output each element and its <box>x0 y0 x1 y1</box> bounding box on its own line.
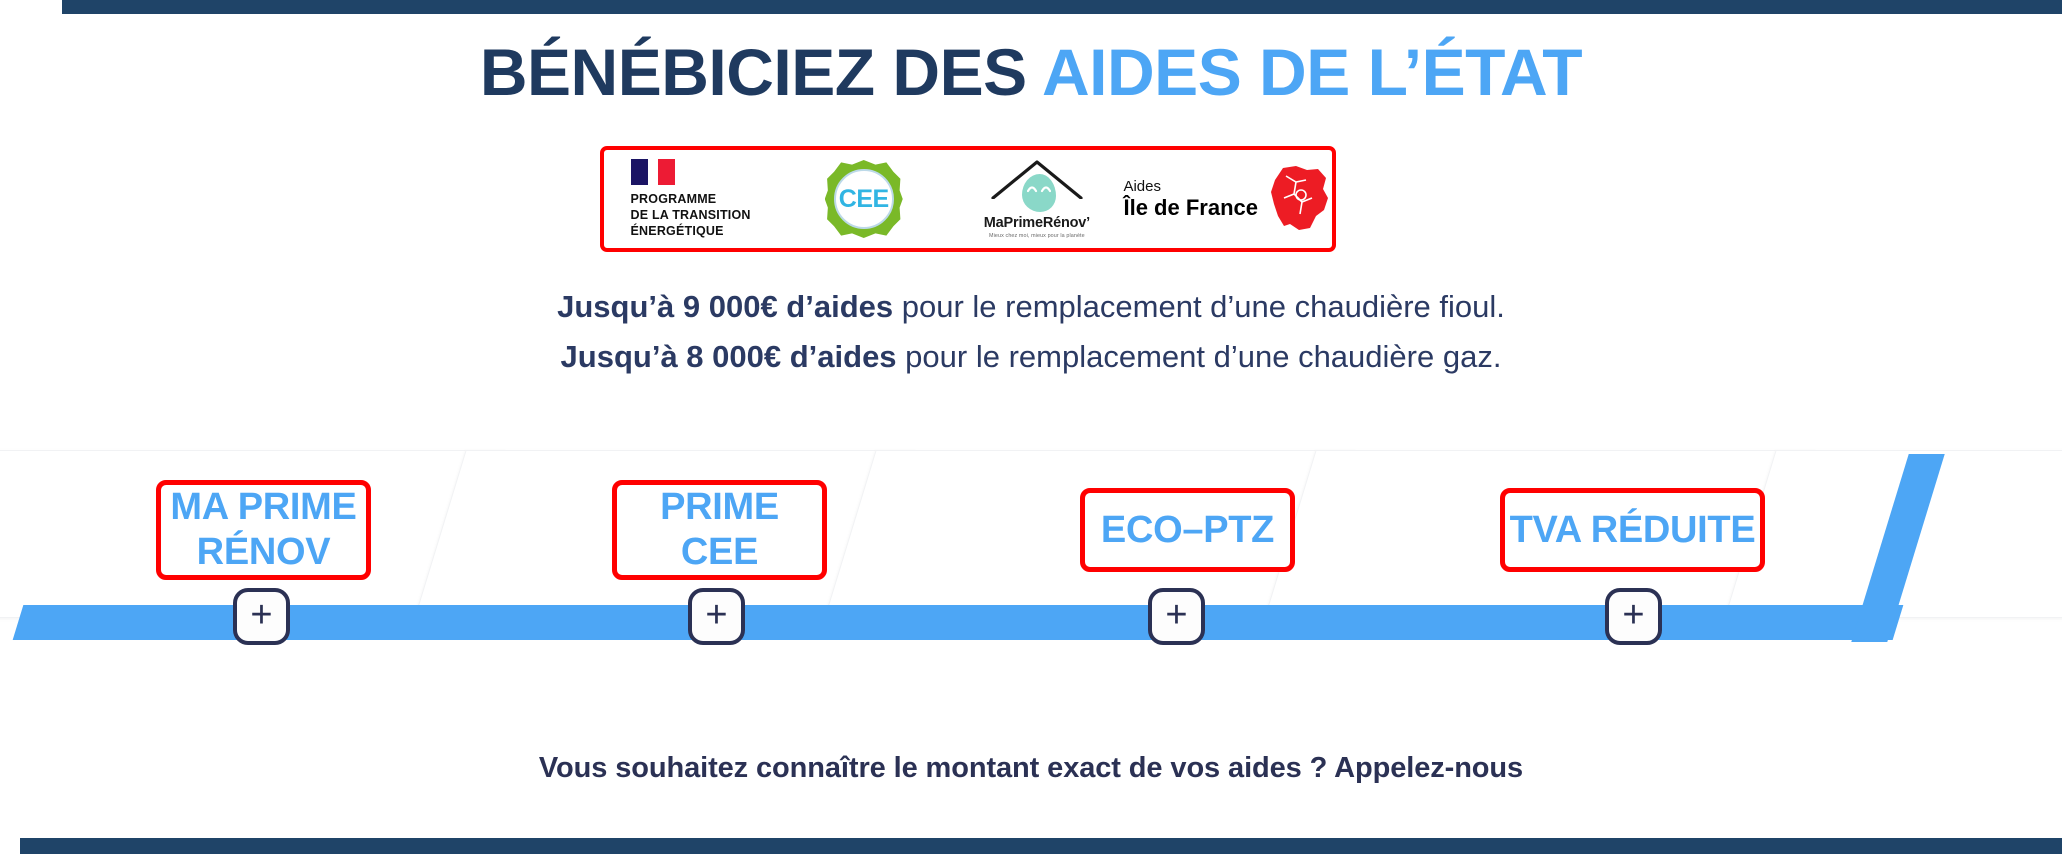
expand-button-ma-prime-renov[interactable]: + <box>233 588 290 645</box>
expand-button-tva-reduite[interactable]: + <box>1605 588 1662 645</box>
pte-line-2: DE LA TRANSITION <box>631 207 751 223</box>
logo-programme-transition-energetique: PROGRAMME DE LA TRANSITION ÉNERGÉTIQUE <box>604 150 777 248</box>
aid-amount-line: Jusqu’à 8 000€ d’aides pour le remplacem… <box>0 332 2062 382</box>
aid-amount-lines: Jusqu’à 9 000€ d’aides pour le remplacem… <box>0 282 2062 382</box>
ile-de-france-map-icon <box>1266 164 1332 234</box>
bottom-navy-rule <box>20 838 2062 854</box>
page-title: BÉNÉBICIEZ DES AIDES DE L’ÉTAT <box>0 38 2062 107</box>
aid-amount-strong-2: Jusqu’à 8 000€ d’aides <box>561 339 897 374</box>
maprimerenov-house-icon <box>991 159 1083 213</box>
aid-badge-tva-reduite[interactable]: TVA RÉDUITE <box>1500 488 1765 572</box>
aid-badge-ma-prime-renov[interactable]: MA PRIME RÉNOV <box>156 480 371 580</box>
aid-amount-rest-1: pour le remplacement d’une chaudière fio… <box>893 289 1505 324</box>
maprimerenov-name: MaPrimeRénov’ <box>984 215 1090 231</box>
contact-callout: Vous souhaitez connaître le montant exac… <box>0 752 2062 785</box>
aides-etat-page: BÉNÉBICIEZ DES AIDES DE L’ÉTAT PROGRAMME… <box>0 0 2062 854</box>
aid-badge-eco-ptz[interactable]: ECO–PTZ <box>1080 488 1295 572</box>
expand-button-prime-cee[interactable]: + <box>688 588 745 645</box>
top-navy-rule <box>62 0 2062 14</box>
maprimerenov-tagline: Mieux chez moi, mieux pour la planète <box>989 233 1085 239</box>
aid-badge-prime-cee[interactable]: PRIME CEE <box>612 480 827 580</box>
smiling-eyes-icon <box>1027 184 1051 193</box>
aid-amount-rest-2: pour le remplacement d’une chaudière gaz… <box>897 339 1502 374</box>
aids-ribbon: MA PRIME RÉNOV PRIME CEE ECO–PTZ TVA RÉD… <box>0 440 2062 670</box>
aid-badge-line-1: TVA RÉDUITE <box>1510 508 1756 553</box>
cee-label: CEE <box>839 185 889 214</box>
cee-ring: CEE <box>834 169 894 229</box>
aid-badge-line-1: ECO–PTZ <box>1101 508 1274 553</box>
logo-maprimerenov: MaPrimeRénov’ Mieux chez moi, mieux pour… <box>950 150 1123 248</box>
idf-small-label: Aides <box>1123 179 1258 194</box>
expand-button-eco-ptz[interactable]: + <box>1148 588 1205 645</box>
aid-badge-line-2: CEE <box>681 531 758 573</box>
partner-logo-strip: PROGRAMME DE LA TRANSITION ÉNERGÉTIQUE C… <box>600 146 1336 252</box>
aid-amount-strong-1: Jusqu’à 9 000€ d’aides <box>557 289 893 324</box>
logo-cee: CEE <box>777 150 950 248</box>
idf-big-label: Île de France <box>1123 197 1258 219</box>
page-title-dark-part: BÉNÉBICIEZ DES <box>480 35 1042 109</box>
pte-line-1: PROGRAMME <box>631 191 751 207</box>
french-flag-icon <box>631 159 675 185</box>
pte-line-3: ÉNERGÉTIQUE <box>631 223 751 239</box>
logo-aides-ile-de-france: Aides Île de France <box>1123 150 1332 248</box>
aid-badge-line-1: PRIME <box>660 486 779 528</box>
aid-badge-line-1: MA PRIME <box>170 486 356 528</box>
aid-amount-line: Jusqu’à 9 000€ d’aides pour le remplacem… <box>0 282 2062 332</box>
aid-badge-line-2: RÉNOV <box>197 531 331 573</box>
page-title-light-part: AIDES DE L’ÉTAT <box>1042 35 1582 109</box>
